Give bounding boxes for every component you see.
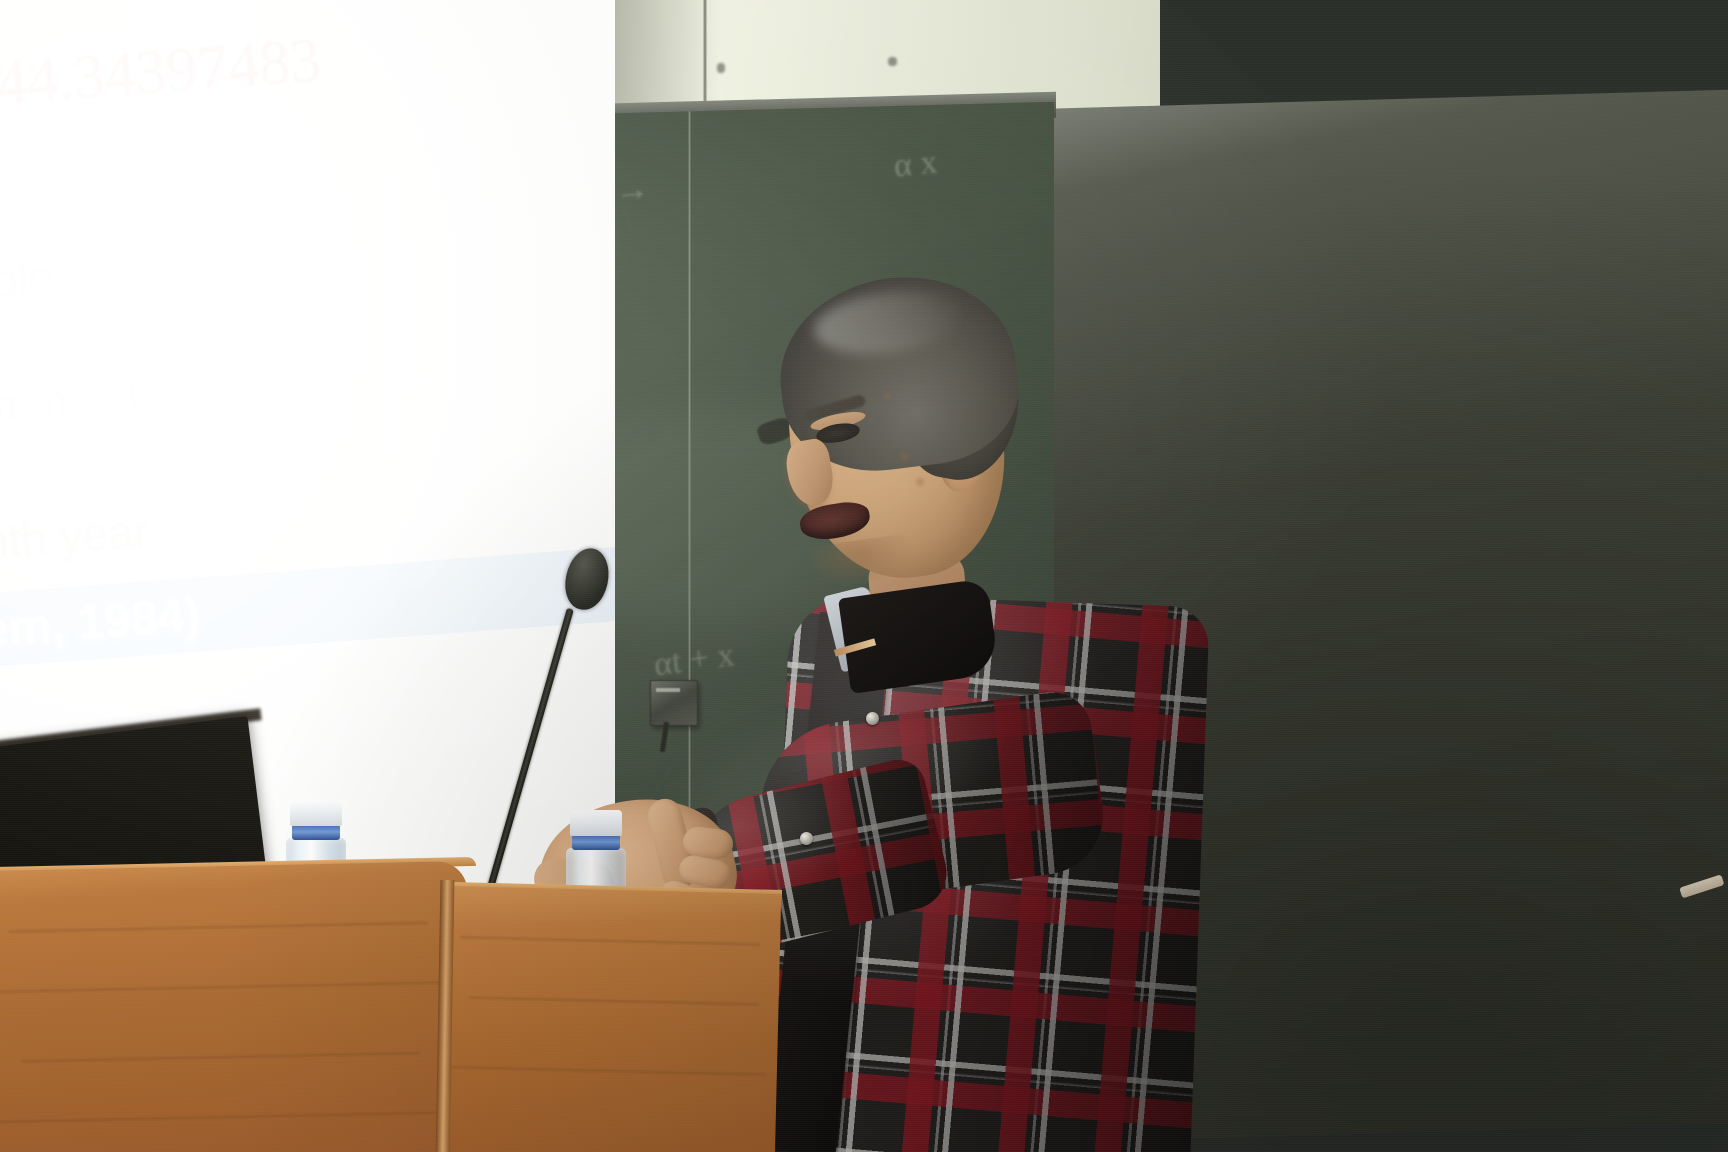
bottle-cap[interactable] [290, 800, 342, 826]
podium-left-panel [0, 861, 473, 1152]
cheek-mark [900, 452, 909, 461]
lecture-hall-photo: γ₂ᵢ ᵢ (tₙ) = ω²λ₁ + xᵢ ₊₁γᵢ + c Xᵢ₊₁Σ∫ᵗα… [0, 0, 1728, 1152]
shirt-button[interactable] [800, 832, 813, 845]
shirt-button[interactable] [866, 712, 879, 725]
bottle-cap[interactable] [570, 810, 622, 836]
podium-right-panel [445, 886, 781, 1152]
cheek-mark [884, 392, 891, 399]
cheek-mark [916, 478, 924, 486]
teeth [1679, 874, 1724, 898]
hair-highlight [811, 284, 967, 362]
bottle-collar [572, 834, 620, 850]
bottle-collar [292, 824, 340, 840]
